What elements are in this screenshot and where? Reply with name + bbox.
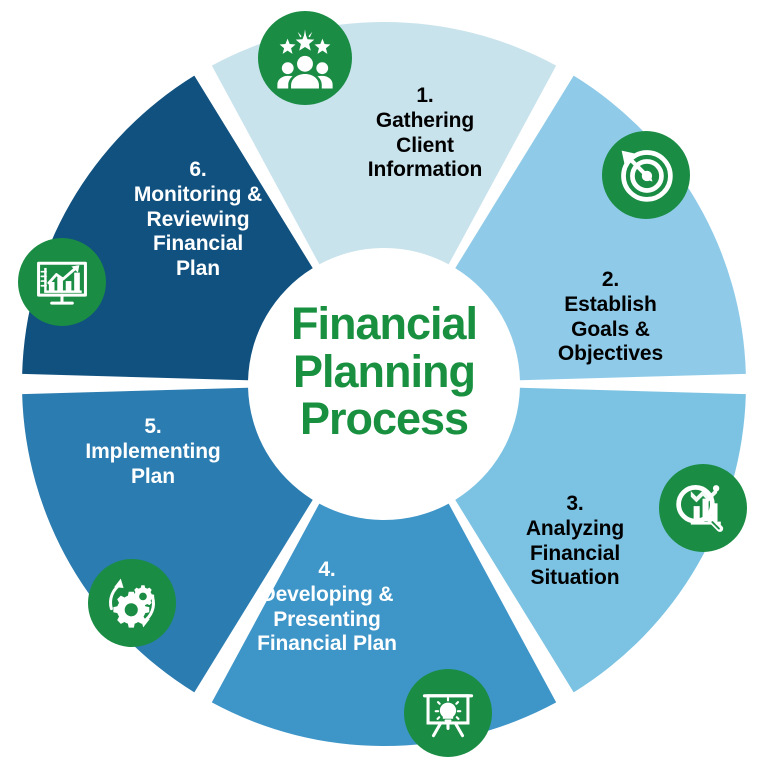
magnifier-bar-chart-icon [673,478,733,538]
badge-people-stars[interactable] [258,11,352,105]
people-stars-icon [274,27,336,89]
badge-monitor-growth-chart[interactable] [18,238,106,326]
infographic-canvas: Financial Planning Process 1. Gathering … [0,0,768,768]
gears-cycle-icon [102,573,162,633]
page-title: Financial Planning Process [256,300,512,443]
target-arrow-icon [616,145,676,205]
badge-presentation-lightbulb[interactable] [404,669,492,757]
presentation-lightbulb-icon [419,684,477,742]
badge-gears-cycle[interactable] [88,559,176,647]
badge-magnifier-bar-chart[interactable] [659,464,747,552]
badge-target-arrow[interactable] [602,131,690,219]
monitor-growth-chart-icon [32,252,92,312]
